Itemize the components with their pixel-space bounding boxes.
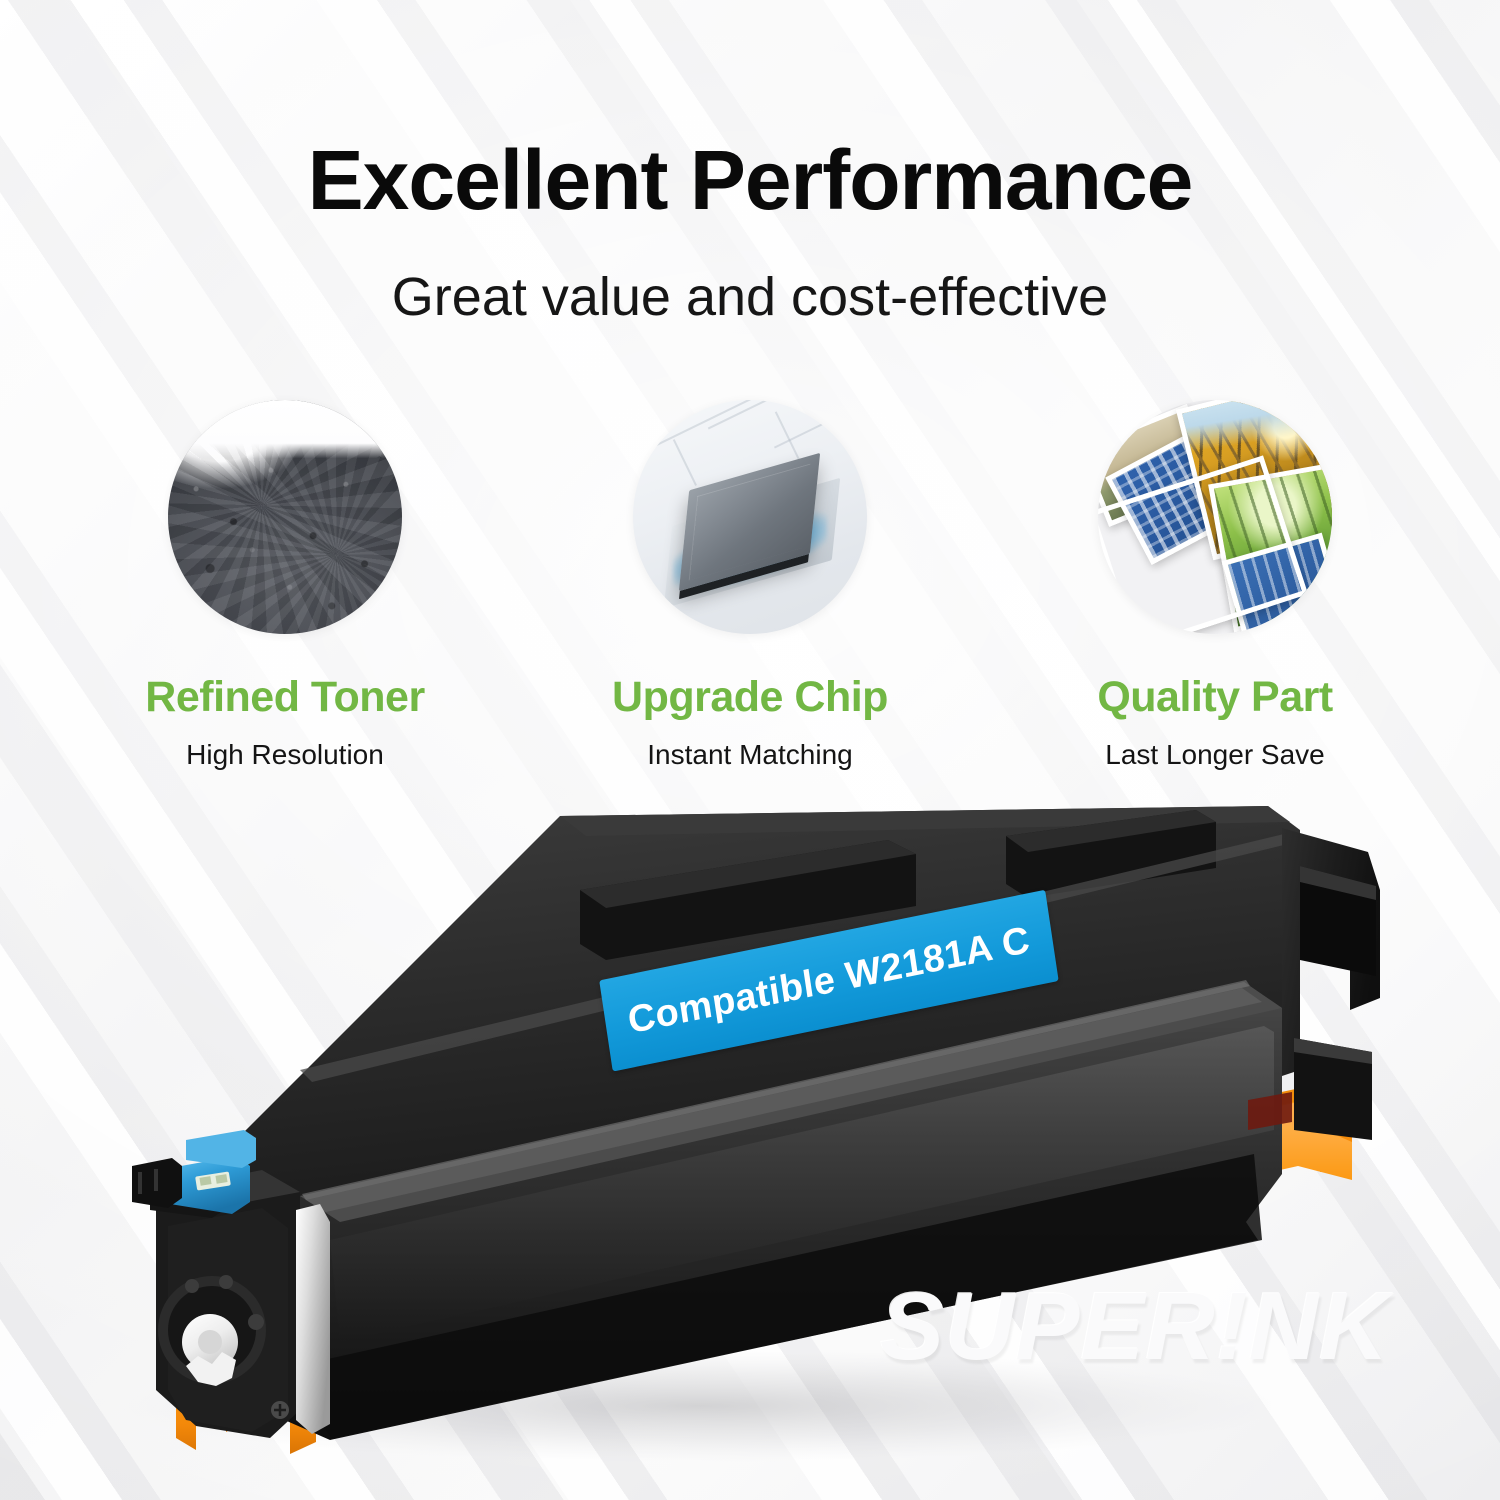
page-subtitle: Great value and cost-effective: [0, 268, 1500, 327]
brand-watermark: SUPER!NK: [880, 1272, 1420, 1382]
cartridge-gear-hole-b: [219, 1275, 233, 1289]
cartridge-left-metal-strap: [296, 1204, 330, 1434]
feature-list: Refined Toner High Resolution Upgrade Ch…: [85, 400, 1415, 769]
cartridge-gear-hole-c: [248, 1314, 264, 1330]
chip-icon: [633, 400, 867, 634]
printed-photos-icon: [1098, 400, 1332, 634]
cartridge-gear-hole-a: [185, 1279, 199, 1293]
feature-title: Upgrade Chip: [612, 676, 888, 719]
toner-powder-icon: [168, 400, 402, 634]
feature-subtitle: Instant Matching: [647, 741, 852, 769]
feature-item-quality-part: Quality Part Last Longer Save: [1015, 400, 1415, 769]
page-title: Excellent Performance: [0, 136, 1500, 224]
cartridge-chip-tab: [186, 1130, 256, 1168]
feature-subtitle: Last Longer Save: [1105, 741, 1325, 769]
feature-item-upgrade-chip: Upgrade Chip Instant Matching: [550, 400, 950, 769]
feature-item-refined-toner: Refined Toner High Resolution: [85, 400, 485, 769]
feature-title: Quality Part: [1097, 676, 1332, 719]
product-feature-banner: Excellent Performance Great value and co…: [0, 0, 1500, 1500]
feature-subtitle: High Resolution: [186, 741, 384, 769]
feature-title: Refined Toner: [145, 676, 424, 719]
